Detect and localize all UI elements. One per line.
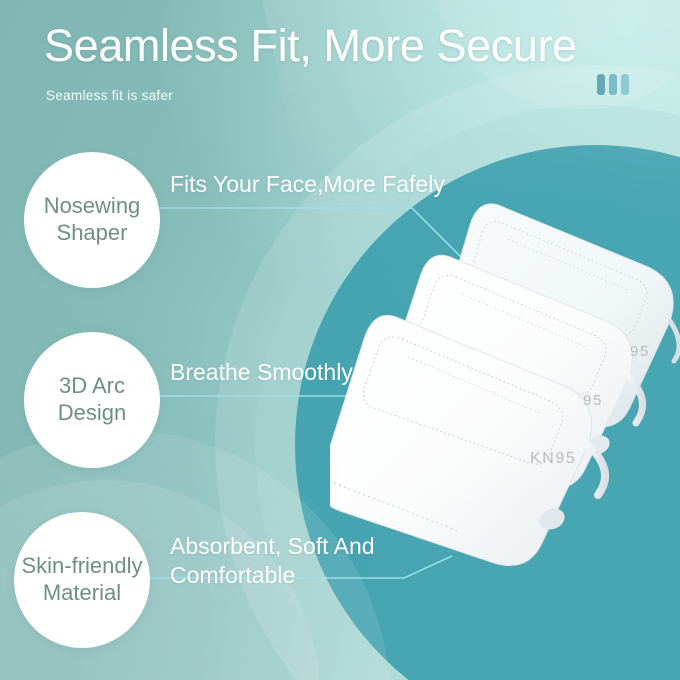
- product-image-kn95-masks: KN95 95 95: [330, 195, 680, 615]
- feature-caption-line-1: Breathe Smoothly: [170, 358, 353, 387]
- feature-bubble-label: 3D Arc Design: [58, 373, 126, 427]
- feature-caption-absorbent-soft-comfortable: Absorbent, Soft And Comfortable: [170, 532, 375, 591]
- feature-bubble-label: Nosewing Shaper: [44, 193, 141, 247]
- feature-bubble-line-1: Skin-friendly: [21, 553, 142, 580]
- feature-caption-fits-your-face: Fits Your Face,More Fafely: [170, 170, 445, 199]
- mask-middle-print-label: 95: [583, 392, 603, 409]
- feature-caption-line-2: Comfortable: [170, 561, 375, 590]
- accent-bar-3: [621, 74, 629, 95]
- page-subtitle: Seamless fit is safer: [46, 88, 173, 103]
- banner-header: Seamless Fit, More Secure Seamless fit i…: [0, 0, 680, 120]
- mask-illustration: [330, 195, 680, 615]
- feature-bubble-nosewing-shaper: Nosewing Shaper: [24, 152, 160, 288]
- accent-bar-1: [597, 74, 605, 95]
- feature-caption-breathe-smoothly: Breathe Smoothly: [170, 358, 353, 387]
- feature-bubble-label: Skin-friendly Material: [21, 553, 142, 607]
- accent-bars-decoration: [597, 74, 629, 95]
- feature-bubble-line-1: 3D Arc: [58, 373, 126, 400]
- mask-back-print-label: 95: [630, 343, 650, 360]
- page-title: Seamless Fit, More Secure: [44, 20, 577, 72]
- product-banner: KN95 95 95 Seamless Fit, More Secure Sea…: [0, 0, 680, 680]
- feature-bubble-line-2: Shaper: [44, 220, 141, 247]
- feature-caption-line-1: Fits Your Face,More Fafely: [170, 170, 445, 199]
- mask-front-print-label: KN95: [530, 450, 576, 468]
- feature-bubble-line-2: Design: [58, 400, 126, 427]
- feature-bubble-line-1: Nosewing: [44, 193, 141, 220]
- feature-bubble-skin-friendly-material: Skin-friendly Material: [14, 512, 150, 648]
- feature-bubble-line-2: Material: [21, 580, 142, 607]
- feature-bubble-3d-arc-design: 3D Arc Design: [24, 332, 160, 468]
- accent-bar-2: [609, 74, 617, 95]
- feature-caption-line-1: Absorbent, Soft And: [170, 532, 375, 561]
